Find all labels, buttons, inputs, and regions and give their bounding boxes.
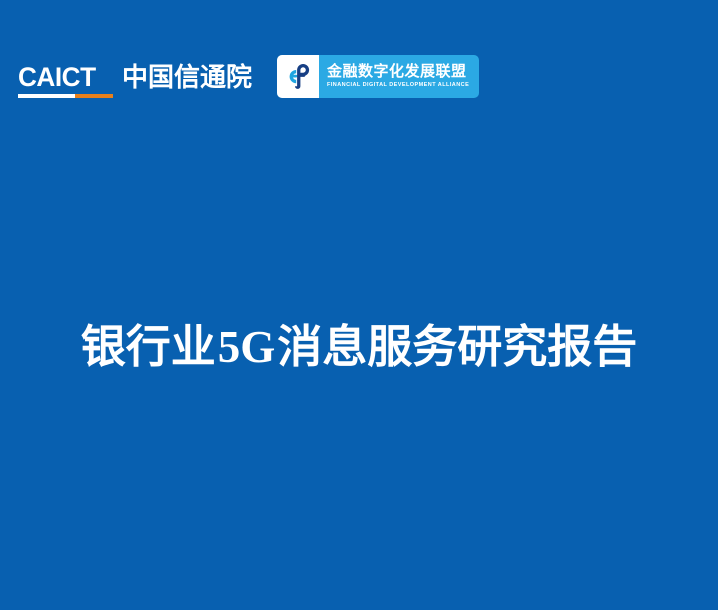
alliance-text-panel: 金融数字化发展联盟 FINANCIAL DIGITAL DEVELOPMENT …	[319, 55, 479, 98]
caict-logo: CAICT 中国信通院	[18, 54, 252, 98]
report-title-part-one: 银行业	[81, 320, 216, 373]
alliance-english-name: FINANCIAL DIGITAL DEVELOPMENT ALLIANCE	[327, 81, 469, 89]
caict-wordmark: CAICT	[18, 63, 110, 91]
report-title: 银行业5G消息服务研究报告	[0, 316, 718, 378]
alliance-icon-box	[277, 55, 319, 98]
alliance-chinese-name: 金融数字化发展联盟	[327, 63, 469, 80]
logo-row: CAICT 中国信通院	[18, 52, 479, 100]
title-slide: CAICT 中国信通院	[0, 0, 718, 610]
caict-mark: CAICT	[18, 63, 113, 98]
caict-chinese-name: 中国信通院	[122, 63, 252, 98]
alliance-emblem-icon	[283, 61, 313, 91]
title-block: 银行业5G消息服务研究报告	[0, 316, 718, 378]
report-title-latin: 5G	[216, 322, 278, 372]
alliance-logo: 金融数字化发展联盟 FINANCIAL DIGITAL DEVELOPMENT …	[277, 55, 479, 98]
caict-underline-rule	[18, 94, 113, 98]
report-title-part-two: 消息服务研究报告	[277, 320, 637, 373]
